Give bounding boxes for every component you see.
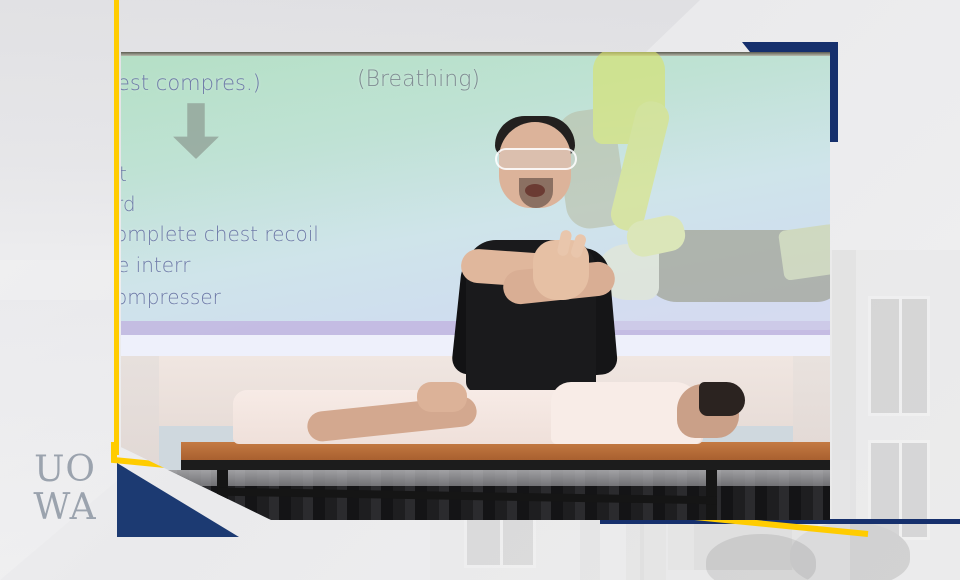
slide-bullet-1: t (121, 162, 127, 186)
illustration-victim-legs (778, 221, 830, 281)
victim-hands (417, 382, 467, 412)
slide-bullet-2: rd (121, 192, 136, 216)
safety-glasses-icon (495, 148, 577, 170)
victim-hair (699, 382, 745, 416)
slide-bullet-4: e interr (121, 253, 191, 277)
instructor-mouth (525, 184, 545, 197)
logo-line-2: WA (22, 490, 108, 526)
down-arrow-icon (173, 103, 219, 159)
table-leg-right (706, 468, 717, 520)
slide-bullet-3: omplete chest recoil (121, 222, 319, 246)
slide-bullet-5: ompresser (121, 285, 221, 309)
slide-breathing-label: (Breathing) (357, 67, 480, 92)
slide-canvas: est compres.) (Breathing) t rd omplete c… (0, 0, 960, 580)
building-window (868, 296, 930, 416)
logo-line-1: UO (22, 452, 108, 488)
slide-title-fragment: est compres.) (121, 71, 261, 95)
yellow-vertical-accent (114, 0, 119, 455)
uowa-logo: UO WA (22, 452, 108, 532)
cpr-training-photo: est compres.) (Breathing) t rd omplete c… (121, 52, 830, 520)
table-top (181, 442, 830, 460)
table-edge (181, 460, 830, 470)
